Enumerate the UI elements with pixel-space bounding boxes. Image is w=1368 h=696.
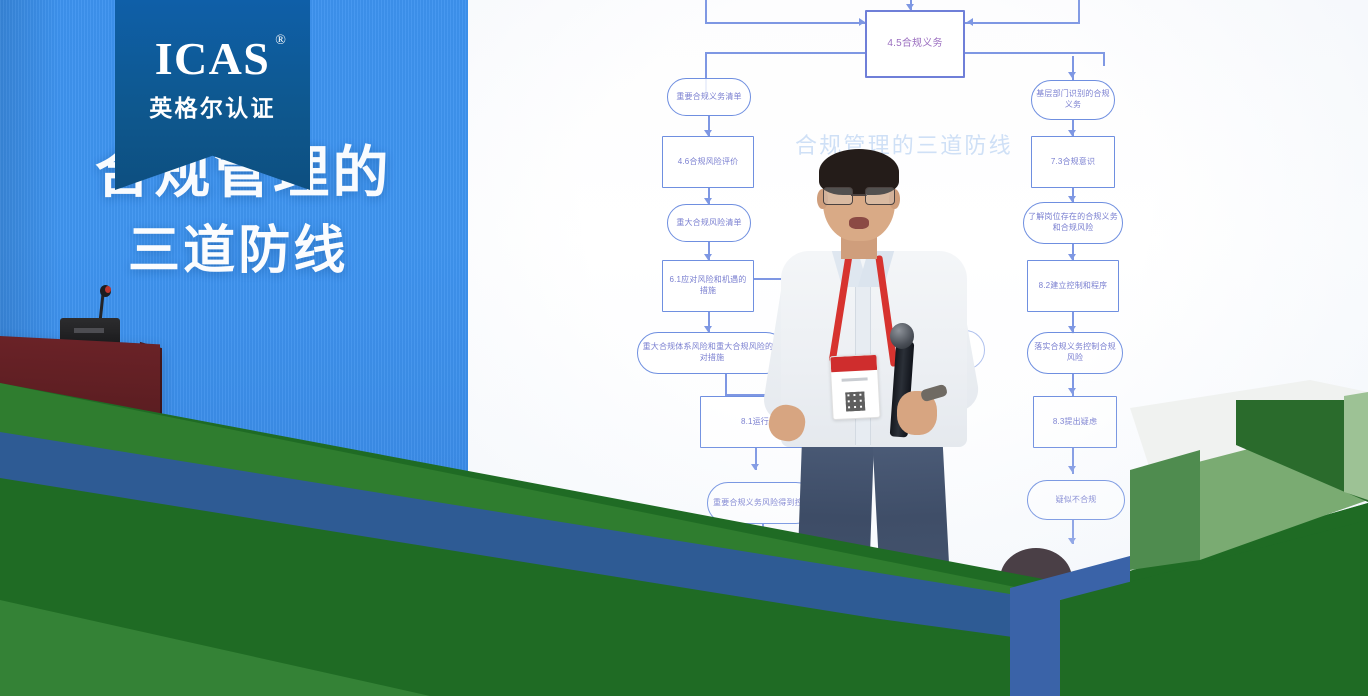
audience-head xyxy=(1288,552,1358,610)
speaker-trousers xyxy=(793,437,953,615)
badge-name-line xyxy=(842,377,868,381)
conference-badge xyxy=(829,354,880,420)
podium-mic-indicator xyxy=(105,286,111,293)
trouser-leg-left xyxy=(796,436,874,616)
podium-mic-grille xyxy=(74,328,104,333)
qr-code-icon xyxy=(845,392,865,412)
glasses-bridge xyxy=(851,194,867,196)
audience-head xyxy=(1000,548,1072,610)
badge-header-band xyxy=(830,355,877,372)
speaker-figure xyxy=(775,155,975,615)
speaker-mouth xyxy=(849,217,869,229)
icas-letters: ICAS xyxy=(155,33,270,84)
audience-head xyxy=(620,538,690,600)
wall-title-line2: 三道防线 xyxy=(128,208,348,283)
conference-photo: 4.5合规义务 重要合规义务清单 4.6合规风险评价 重大合规风险清单 xyxy=(0,0,1368,696)
icas-chinese-name: 英格尔认证 xyxy=(149,89,276,123)
podium xyxy=(0,336,160,470)
glasses-icon xyxy=(823,187,895,204)
registered-mark-icon: ® xyxy=(275,34,287,48)
icas-wordmark: ICAS® xyxy=(155,36,270,82)
trouser-leg-right xyxy=(872,435,951,616)
screenshot-canvas: 4.5合规义务 重要合规义务清单 4.6合规风险评价 重大合规风险清单 xyxy=(0,0,1368,696)
